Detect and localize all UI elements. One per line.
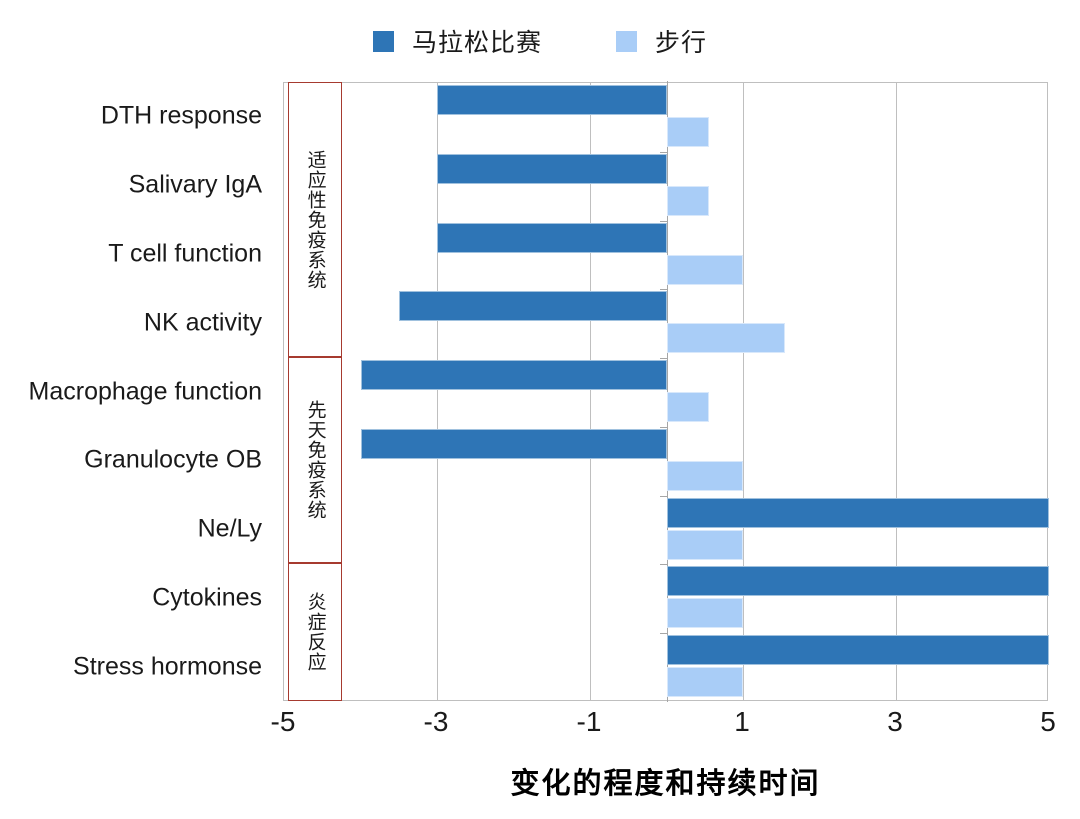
bar-walking[interactable] <box>667 530 744 560</box>
bar-walking[interactable] <box>667 598 744 628</box>
y-axis-label: Stress hormonse <box>0 652 262 681</box>
legend-entry-marathon: 马拉松比赛 <box>373 23 542 59</box>
y-axis-label: Granulocyte OB <box>0 446 262 475</box>
bar-marathon[interactable] <box>667 566 1050 596</box>
bar-walking[interactable] <box>667 461 744 491</box>
legend-swatch-marathon <box>373 31 394 52</box>
axis-tick <box>660 358 667 359</box>
x-axis-ticks: -5-3-1135 <box>283 706 1048 746</box>
group-box-label: 先天免疫系统 <box>304 400 325 520</box>
bar-marathon[interactable] <box>361 429 667 459</box>
axis-tick <box>660 564 667 565</box>
bar-walking[interactable] <box>667 255 744 285</box>
x-axis-tick-label: -3 <box>424 706 449 738</box>
gridline <box>896 83 897 700</box>
x-axis-title: 变化的程度和持续时间 <box>283 760 1048 802</box>
bar-marathon[interactable] <box>667 635 1050 665</box>
x-axis-tick-label: 5 <box>1040 706 1056 738</box>
bar-walking[interactable] <box>667 392 709 422</box>
legend-entry-walking: 步行 <box>616 23 707 59</box>
group-box: 适应性免疫系统 <box>288 82 342 357</box>
bar-walking[interactable] <box>667 117 709 147</box>
x-axis-tick-label: 3 <box>887 706 903 738</box>
y-axis-label: DTH response <box>0 102 262 131</box>
y-axis-label: Cytokines <box>0 583 262 612</box>
y-axis-label: NK activity <box>0 308 262 337</box>
category-group-boxes: 适应性免疫系统先天免疫系统炎症反应 <box>288 82 342 701</box>
axis-tick <box>660 289 667 290</box>
group-box: 先天免疫系统 <box>288 357 342 563</box>
bar-walking[interactable] <box>667 186 709 216</box>
group-box-label: 适应性免疫系统 <box>304 150 325 290</box>
axis-tick <box>660 427 667 428</box>
axis-tick <box>660 633 667 634</box>
legend-swatch-walking <box>616 31 637 52</box>
axis-tick <box>660 221 667 222</box>
axis-tick <box>660 152 667 153</box>
bar-marathon[interactable] <box>437 85 667 115</box>
x-axis-tick-label: -5 <box>271 706 296 738</box>
gridline <box>743 83 744 700</box>
bar-marathon[interactable] <box>437 223 667 253</box>
plot-area <box>283 82 1048 701</box>
bar-marathon[interactable] <box>399 291 667 321</box>
chart-canvas: 马拉松比赛 步行 DTH responseSalivary IgAT cell … <box>0 0 1080 819</box>
group-box-label: 炎症反应 <box>304 592 325 672</box>
y-axis-labels: DTH responseSalivary IgAT cell functionN… <box>0 82 272 701</box>
x-axis-tick-label: 1 <box>734 706 750 738</box>
axis-tick <box>660 496 667 497</box>
bar-marathon[interactable] <box>667 498 1050 528</box>
y-axis-label: Macrophage function <box>0 377 262 406</box>
chart-legend: 马拉松比赛 步行 <box>0 18 1080 64</box>
legend-label-marathon: 马拉松比赛 <box>412 23 542 59</box>
bar-walking[interactable] <box>667 667 744 697</box>
legend-label-walking: 步行 <box>655 23 707 59</box>
y-axis-label: Ne/Ly <box>0 515 262 544</box>
y-axis-label: T cell function <box>0 239 262 268</box>
bar-walking[interactable] <box>667 323 786 353</box>
x-axis-tick-label: -1 <box>577 706 602 738</box>
group-box: 炎症反应 <box>288 563 342 701</box>
bar-marathon[interactable] <box>437 154 667 184</box>
bar-marathon[interactable] <box>361 360 667 390</box>
y-axis-label: Salivary IgA <box>0 171 262 200</box>
